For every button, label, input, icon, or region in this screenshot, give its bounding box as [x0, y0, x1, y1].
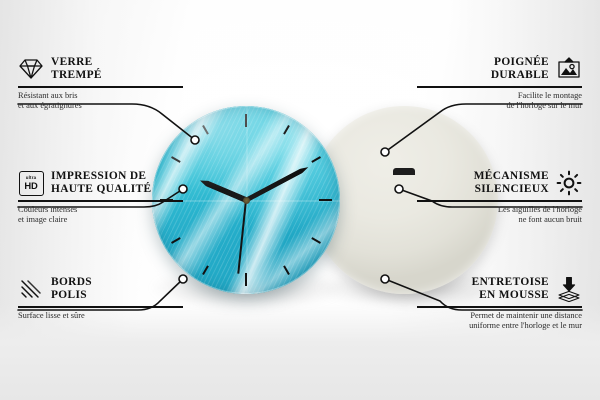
callout-rule	[417, 306, 582, 308]
callout-desc-line2: uniforme entre l'horloge et le mur	[417, 321, 582, 331]
callout-desc-line1: Couleurs intenses	[18, 205, 183, 215]
diamond-icon	[18, 56, 44, 82]
callout-verre-trempe: VERRE TREMPÉ Résistant aux bris et aux é…	[18, 56, 183, 112]
callout-rule	[417, 200, 582, 202]
callout-desc-line2: de l'horloge sur le mur	[417, 101, 582, 111]
connector-dot-poignee	[381, 148, 389, 156]
ultra-hd-label-bottom: HD	[24, 181, 37, 191]
callout-impression-haute-qualite: ultra HD IMPRESSION DE HAUTE QUALITÉ Cou…	[18, 170, 183, 226]
callout-desc-line1: Surface lisse et sûre	[18, 311, 183, 321]
connector-dot-verre-trempe	[191, 136, 199, 144]
callout-desc-line2: et aux égratignures	[18, 101, 183, 111]
callout-desc-line2: et image claire	[18, 215, 183, 225]
polished-edges-icon	[18, 276, 44, 302]
callout-rule	[18, 86, 183, 88]
callout-title-line2: DURABLE	[491, 69, 549, 82]
callout-desc-line2: ne font aucun bruit	[417, 215, 582, 225]
callout-title-line1: POIGNÉE	[491, 56, 549, 69]
callout-poignee-durable: POIGNÉE DURABLE Facilite le montage de l…	[417, 56, 582, 112]
callout-title-line1: ENTRETOISE	[472, 276, 549, 289]
callout-desc-line1: Permet de maintenir une distance	[417, 311, 582, 321]
gear-icon	[556, 170, 582, 196]
callout-title-line2: TREMPÉ	[51, 69, 102, 82]
callout-title-line1: VERRE	[51, 56, 102, 69]
connector-dot-mecanisme	[395, 185, 403, 193]
callout-title-line2: POLIS	[51, 289, 92, 302]
callout-rule	[417, 86, 582, 88]
callout-mecanisme-silencieux: MÉCANISME SILENCIEUX Les aiguilles de l'…	[417, 170, 582, 226]
callout-title-line2: HAUTE QUALITÉ	[51, 183, 151, 196]
callout-desc-line1: Les aiguilles de l'horloge	[417, 205, 582, 215]
callout-bords-polis: BORDS POLIS Surface lisse et sûre	[18, 276, 183, 321]
callout-title-line2: EN MOUSSE	[472, 289, 549, 302]
picture-hanger-icon	[556, 56, 582, 82]
callout-title-line1: BORDS	[51, 276, 92, 289]
ultra-hd-icon: ultra HD	[18, 170, 44, 196]
foam-spacer-icon	[556, 276, 582, 302]
callout-rule	[18, 200, 183, 202]
infographic-stage: AA 1.5V	[0, 0, 600, 400]
callout-title-line1: MÉCANISME	[474, 170, 549, 183]
callout-title-line1: IMPRESSION DE	[51, 170, 151, 183]
callout-title-line2: SILENCIEUX	[474, 183, 549, 196]
callout-entretoise-en-mousse: ENTRETOISE EN MOUSSE Permet de maintenir…	[417, 276, 582, 332]
callout-desc-line1: Facilite le montage	[417, 91, 582, 101]
callout-desc-line1: Résistant aux bris	[18, 91, 183, 101]
connector-dot-entretoise	[381, 275, 389, 283]
callout-rule	[18, 306, 183, 308]
